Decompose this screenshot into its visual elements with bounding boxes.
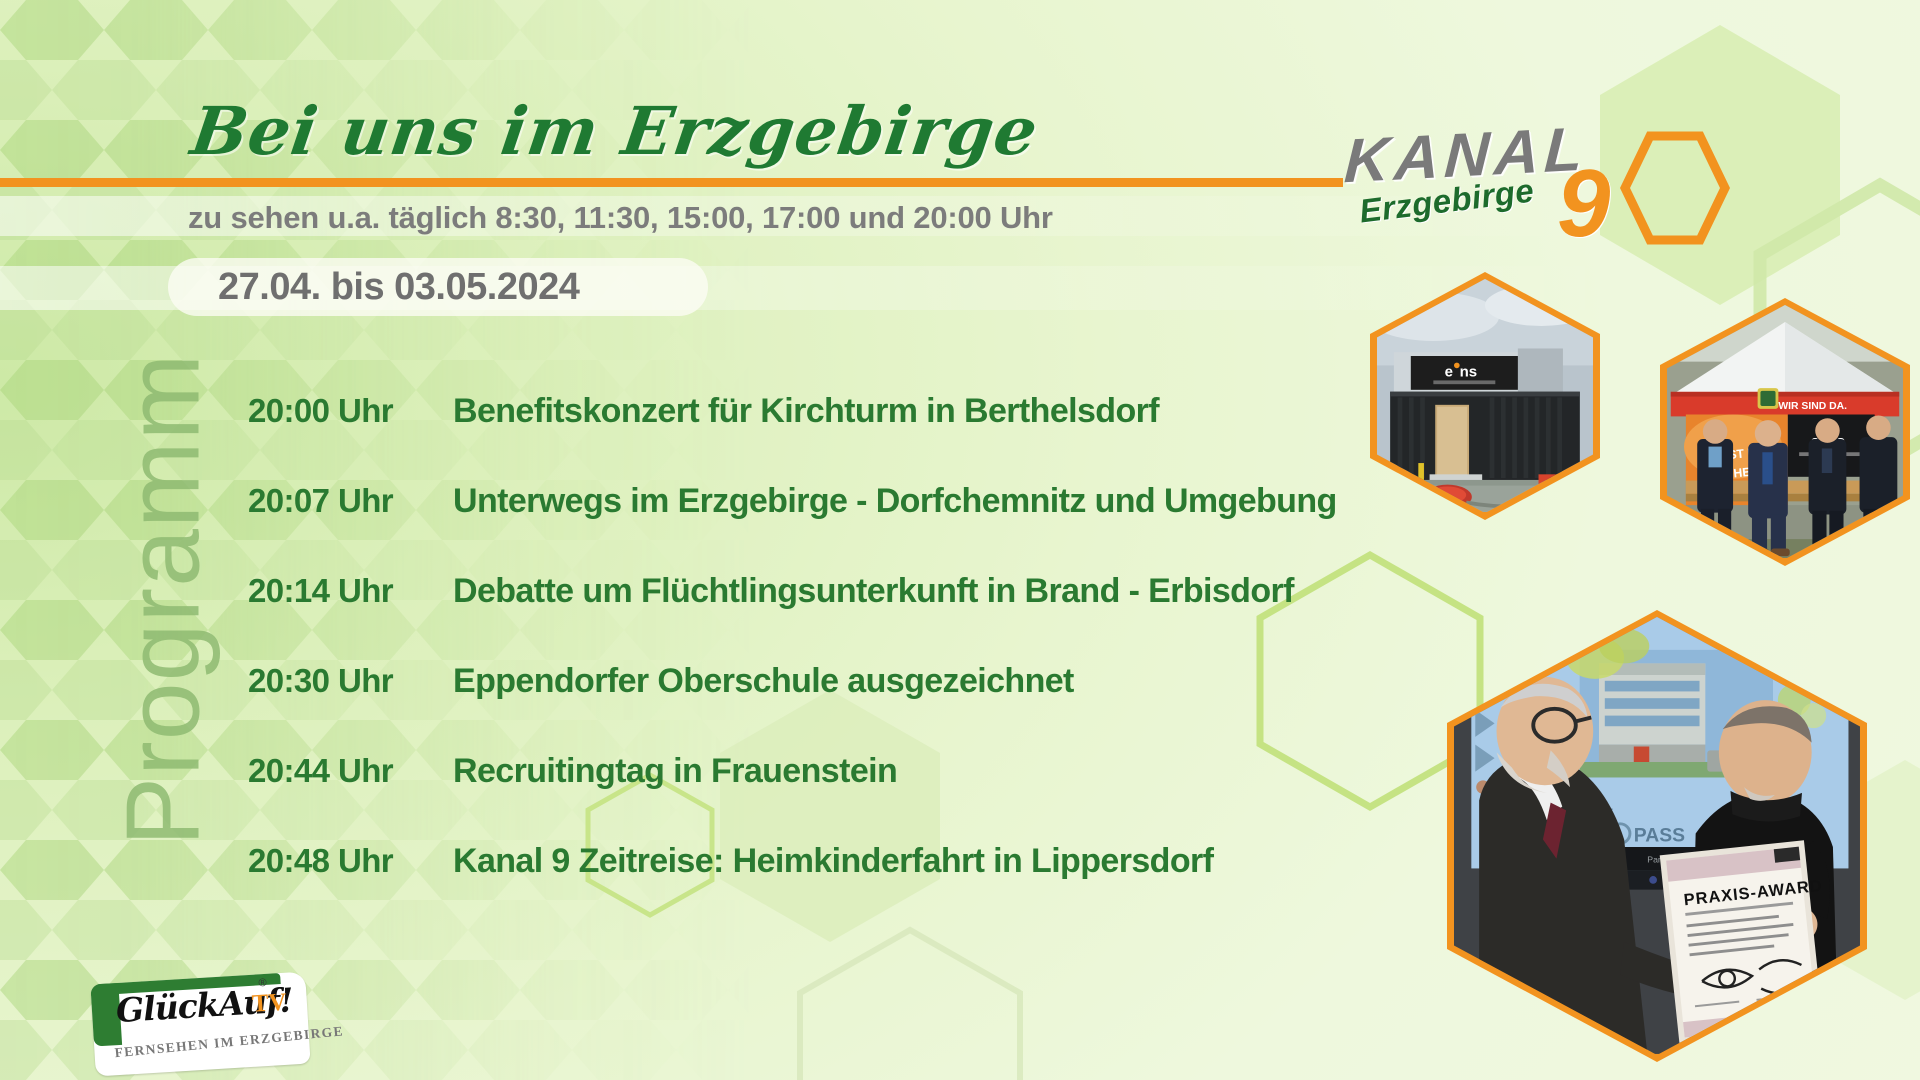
program-title: Kanal 9 Zeitreise: Heimkinderfahrt in Li… [453, 842, 1213, 881]
station-logo[interactable]: GlückAuf! TV ® FERNSEHEN IM ERZGEBIRGE [90, 972, 310, 1077]
photo-feuerwehr-zelt[interactable]: WIR SIND DA. PASST DIR DER HELM? e ns [1660, 298, 1910, 566]
photo-praxis-award[interactable]: MIT HL PASS Panaflex [1447, 610, 1867, 1062]
svg-text:PASS: PASS [1634, 825, 1685, 846]
broadcast-times-subtitle: zu sehen u.a. täglich 8:30, 11:30, 15:00… [188, 200, 1053, 236]
program-title: Eppendorfer Oberschule ausgezeichnet [453, 662, 1074, 701]
channel-logo: KANAL Erzgebirge 9 [1345, 120, 1685, 260]
program-title: Unterwegs im Erzgebirge - Dorfchemnitz u… [453, 482, 1337, 521]
photo-eins-container[interactable]: e ns [1370, 272, 1600, 520]
station-logo-tv: TV [251, 989, 287, 1019]
program-row[interactable]: 20:00 Uhr Benefitskonzert für Kirchturm … [248, 392, 1408, 482]
program-row[interactable]: 20:30 Uhr Eppendorfer Oberschule ausgeze… [248, 662, 1408, 752]
poster-canvas: Bei uns im Erzgebirge zu sehen u.a. tägl… [0, 0, 1920, 1080]
photo-hex-inner: MIT HL PASS Panaflex [1454, 617, 1860, 1055]
hexagon-outline-icon [1615, 128, 1735, 248]
program-list: 20:00 Uhr Benefitskonzert für Kirchturm … [248, 392, 1408, 932]
header-divider-rule [0, 178, 1343, 187]
registered-trademark-icon: ® [258, 977, 267, 989]
program-title: Recruitingtag in Frauenstein [453, 752, 897, 791]
svg-text:WIR SIND DA.: WIR SIND DA. [1778, 401, 1847, 412]
program-row[interactable]: 20:07 Uhr Unterwegs im Erzgebirge - Dorf… [248, 482, 1408, 572]
channel-logo-number: 9 [1557, 156, 1610, 252]
program-time: 20:14 Uhr [248, 572, 453, 610]
program-time: 20:30 Uhr [248, 662, 453, 700]
svg-text:ns: ns [1460, 364, 1478, 381]
program-row[interactable]: 20:48 Uhr Kanal 9 Zeitreise: Heimkinderf… [248, 842, 1408, 932]
program-time: 20:07 Uhr [248, 482, 453, 520]
program-title: Debatte um Flüchtlingsunterkunft in Bran… [453, 572, 1294, 611]
date-range-text: 27.04. bis 03.05.2024 [218, 266, 579, 309]
program-time: 20:44 Uhr [248, 752, 453, 790]
svg-text:e: e [1445, 364, 1453, 381]
program-time: 20:00 Uhr [248, 392, 453, 430]
date-range-badge: 27.04. bis 03.05.2024 [168, 258, 708, 316]
page-title: Bei uns im Erzgebirge [187, 92, 1044, 170]
program-time: 20:48 Uhr [248, 842, 453, 880]
program-title: Benefitskonzert für Kirchturm in Berthel… [453, 392, 1159, 431]
program-row[interactable]: 20:14 Uhr Debatte um Flüchtlingsunterkun… [248, 572, 1408, 662]
program-row[interactable]: 20:44 Uhr Recruitingtag in Frauenstein [248, 752, 1408, 842]
